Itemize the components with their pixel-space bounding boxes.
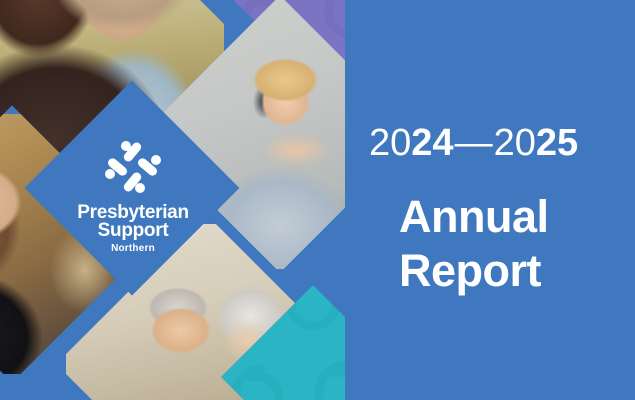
page-title: Annual Report <box>399 190 549 298</box>
report-years: 2024—2025 <box>369 122 578 164</box>
title-line-2: Report <box>399 244 549 298</box>
years-end-light: 20 <box>494 122 536 164</box>
years-end-bold: 25 <box>536 122 578 164</box>
annual-report-cover: Presbyterian Support Northern 2024—2025 … <box>0 0 635 400</box>
years-start-bold: 24 <box>411 122 453 164</box>
presbyterian-support-pinwheel-mark <box>101 138 165 196</box>
years-dash: — <box>454 122 494 164</box>
years-start-light: 20 <box>369 122 411 164</box>
presbyterian-support-northern-logo: Presbyterian Support Northern <box>58 138 208 258</box>
logo-line-3: Northern <box>58 240 208 258</box>
title-line-1: Annual <box>399 190 549 244</box>
logo-line-2: Support <box>58 221 208 240</box>
logo-line-1: Presbyterian <box>58 204 208 221</box>
